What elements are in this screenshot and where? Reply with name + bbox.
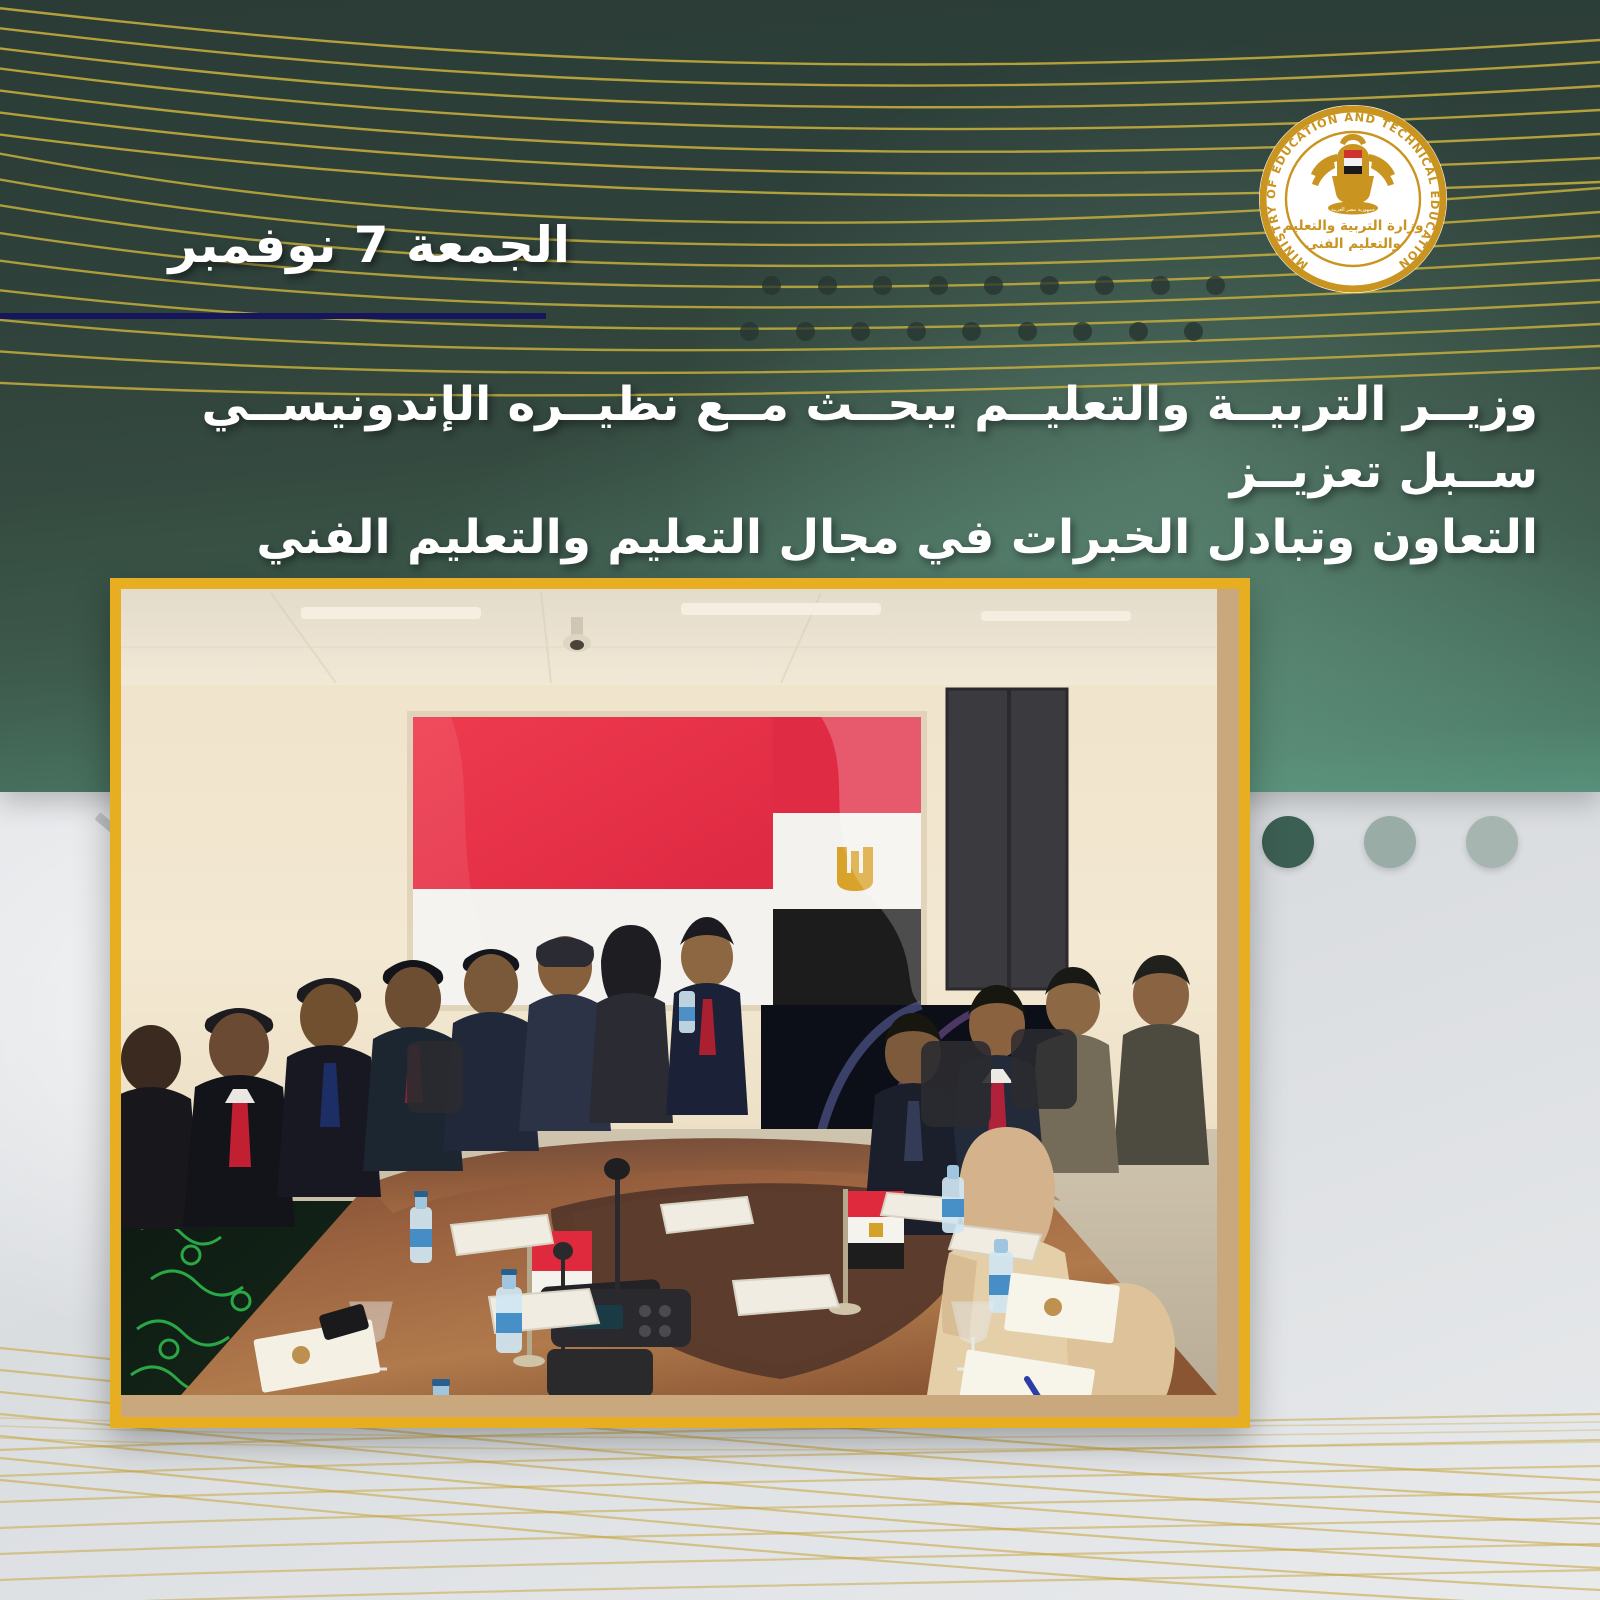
grid-dot xyxy=(1129,322,1148,341)
date-underline-rule xyxy=(0,313,546,319)
grid-dot xyxy=(1206,276,1225,295)
indicator-active-circle xyxy=(1262,816,1314,868)
grid-dot xyxy=(1073,322,1092,341)
grid-dot xyxy=(1040,276,1059,295)
grid-dot xyxy=(873,276,892,295)
indicator-circles xyxy=(1262,816,1518,868)
grid-dot xyxy=(962,322,981,341)
grid-dot xyxy=(818,276,837,295)
grid-dot xyxy=(929,276,948,295)
grid-dot xyxy=(851,322,870,341)
grid-dot xyxy=(907,322,926,341)
grid-dot xyxy=(1018,322,1037,341)
headline-line-1: وزيــر التربيــة والتعليــم يبحــث مــع … xyxy=(72,372,1538,505)
seal-motto-text: جمهورية مصر العربية xyxy=(1331,207,1375,213)
grid-dot xyxy=(1151,276,1170,295)
seal-arabic-line-2: والتعليم الفني xyxy=(1305,236,1401,252)
poster-date: الجمعة 7 نوفمبر xyxy=(168,216,570,274)
dot-grid-decoration xyxy=(762,276,1225,368)
grid-dot xyxy=(740,322,759,341)
grid-dot xyxy=(1095,276,1114,295)
grid-dot xyxy=(762,276,781,295)
social-media-poster: جمهورية مصر العربية وزارة التربية والتعل… xyxy=(0,0,1600,1600)
grid-dot xyxy=(796,322,815,341)
ministry-seal-logo: جمهورية مصر العربية وزارة التربية والتعل… xyxy=(1258,104,1448,294)
page-title: وزيــر التربيــة والتعليــم يبحــث مــع … xyxy=(72,372,1538,572)
grid-dot xyxy=(1184,322,1203,341)
dot-grid-row xyxy=(740,322,1225,341)
indicator-3-circle xyxy=(1466,816,1518,868)
dot-grid-row xyxy=(762,276,1225,295)
headline-line-2: التعاون وتبادل الخبرات في مجال التعليم و… xyxy=(72,505,1538,572)
indicator-2-circle xyxy=(1364,816,1416,868)
seal-arabic-line-1: وزارة التربية والتعليم xyxy=(1282,218,1423,234)
grid-dot xyxy=(984,276,1003,295)
news-photo xyxy=(110,578,1250,1428)
